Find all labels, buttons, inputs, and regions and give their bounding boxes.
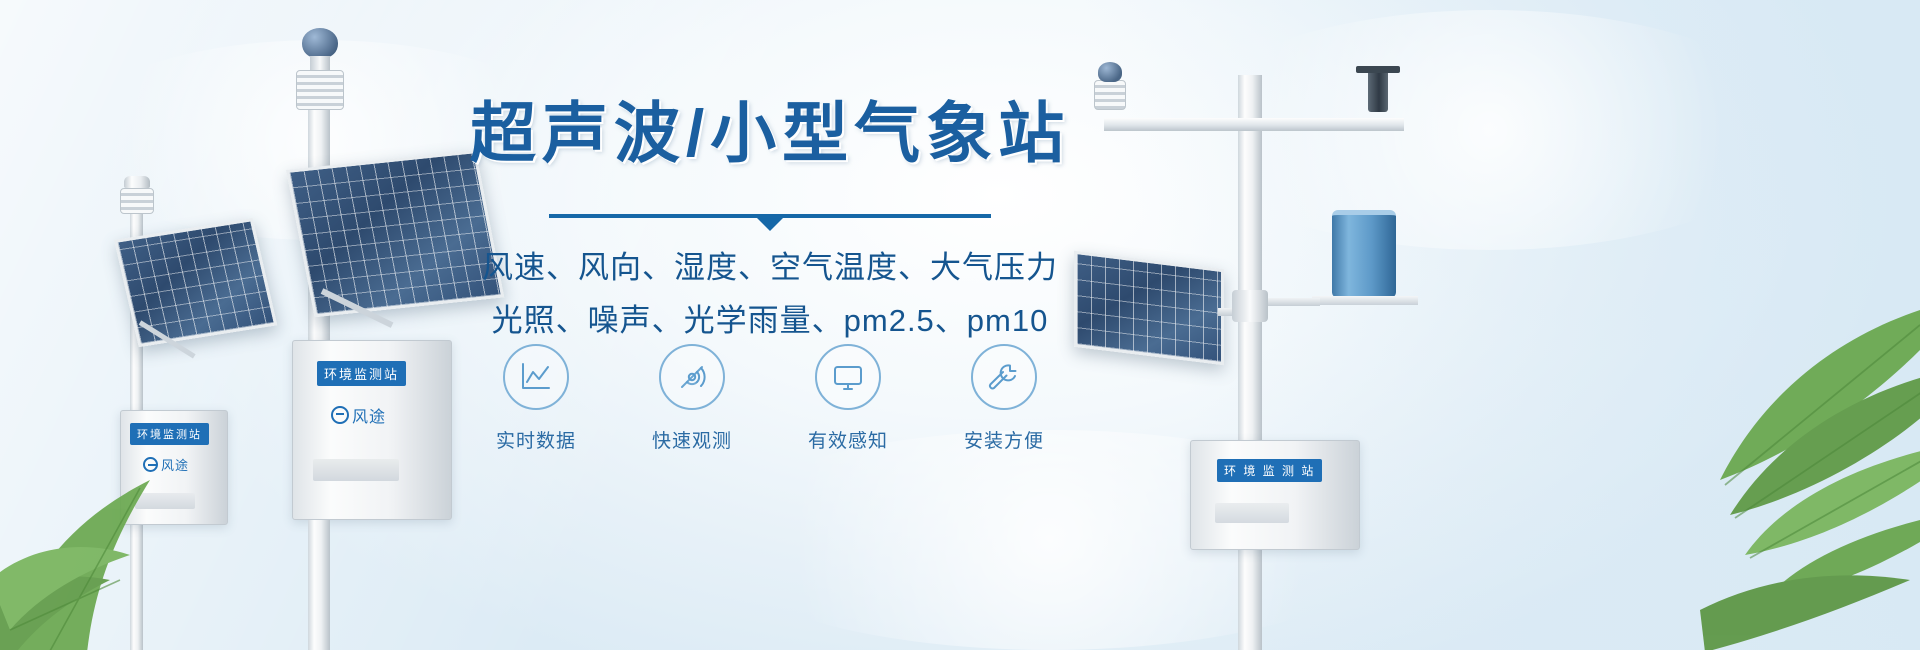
brand-name: 风途 xyxy=(161,455,189,474)
brand-logo: 风途 xyxy=(331,403,386,427)
ultrasonic-wind-sensor xyxy=(1098,62,1122,82)
brand-name: 风途 xyxy=(352,403,386,427)
radar-signal-icon xyxy=(659,344,725,410)
rain-gauge xyxy=(1332,210,1396,298)
sensor-radiation-shield xyxy=(296,70,344,110)
feature-label: 安装方便 xyxy=(949,426,1059,453)
feature-label: 快速观测 xyxy=(637,426,747,453)
feature-label: 有效感知 xyxy=(793,426,903,453)
page-title: 超声波/小型气象站 xyxy=(440,96,1100,172)
brand-mark-icon xyxy=(331,406,349,424)
feature-item-realtime-data[interactable]: 实时数据 xyxy=(481,344,591,453)
enclosure-tag-label: 环 境 监 测 站 xyxy=(1217,459,1322,482)
enclosure-vent xyxy=(313,459,399,481)
rain-gauge-mount xyxy=(1312,296,1418,305)
sensor-neck xyxy=(310,56,330,70)
divider-triangle-icon xyxy=(757,218,783,231)
wrench-icon xyxy=(971,344,1037,410)
feature-item-easy-installation[interactable]: 安装方便 xyxy=(949,344,1059,453)
cross-arm xyxy=(1104,118,1404,131)
rain-gauge-arm xyxy=(1262,298,1320,306)
brand-mark-icon xyxy=(143,457,158,472)
enclosure-box: 环境监测站 风途 xyxy=(120,410,228,525)
brand-logo: 风途 xyxy=(143,455,189,474)
subtitle-line-1: 风速、风向、湿度、空气温度、大气压力 xyxy=(440,244,1100,293)
feature-item-effective-sensing[interactable]: 有效感知 xyxy=(793,344,903,453)
subtitle-block: 风速、风向、湿度、空气温度、大气压力 光照、噪声、光学雨量、pm2.5、pm10 xyxy=(440,244,1100,346)
feature-label: 实时数据 xyxy=(481,426,591,453)
monitor-screen-icon xyxy=(815,344,881,410)
enclosure-vent xyxy=(135,493,195,509)
line-chart-icon xyxy=(503,344,569,410)
sensor-cap xyxy=(124,176,150,188)
subtitle-line-2: 光照、噪声、光学雨量、pm2.5、pm10 xyxy=(440,297,1100,346)
leaf-decoration-right xyxy=(1400,280,1920,650)
title-divider xyxy=(549,214,991,218)
enclosure-box: 环境监测站 风途 xyxy=(292,340,452,520)
enclosure-vent xyxy=(1215,503,1289,523)
mast-pole xyxy=(1238,75,1262,650)
mast-pole-lower xyxy=(308,520,330,650)
feature-item-fast-observation[interactable]: 快速观测 xyxy=(637,344,747,453)
banner-copy: 超声波/小型气象站 风速、风向、湿度、空气温度、大气压力 光照、噪声、光学雨量、… xyxy=(440,96,1100,346)
wind-vane-sensor xyxy=(1368,70,1388,112)
feature-list: 实时数据 快速观测 有效感知 xyxy=(440,344,1100,453)
enclosure-box: 环 境 监 测 站 xyxy=(1190,440,1360,550)
enclosure-tag-label: 环境监测站 xyxy=(130,423,209,445)
mast-collar xyxy=(1232,290,1268,322)
sensor-radiation-shield xyxy=(120,188,154,214)
ultrasonic-wind-sensor xyxy=(302,28,338,58)
wind-vane-blade xyxy=(1356,66,1400,73)
station-right: 环 境 监 测 站 xyxy=(1060,40,1460,650)
product-banner: 环境监测站 风途 环境监测站 风途 xyxy=(0,0,1920,650)
enclosure-tag-label: 环境监测站 xyxy=(317,361,406,386)
